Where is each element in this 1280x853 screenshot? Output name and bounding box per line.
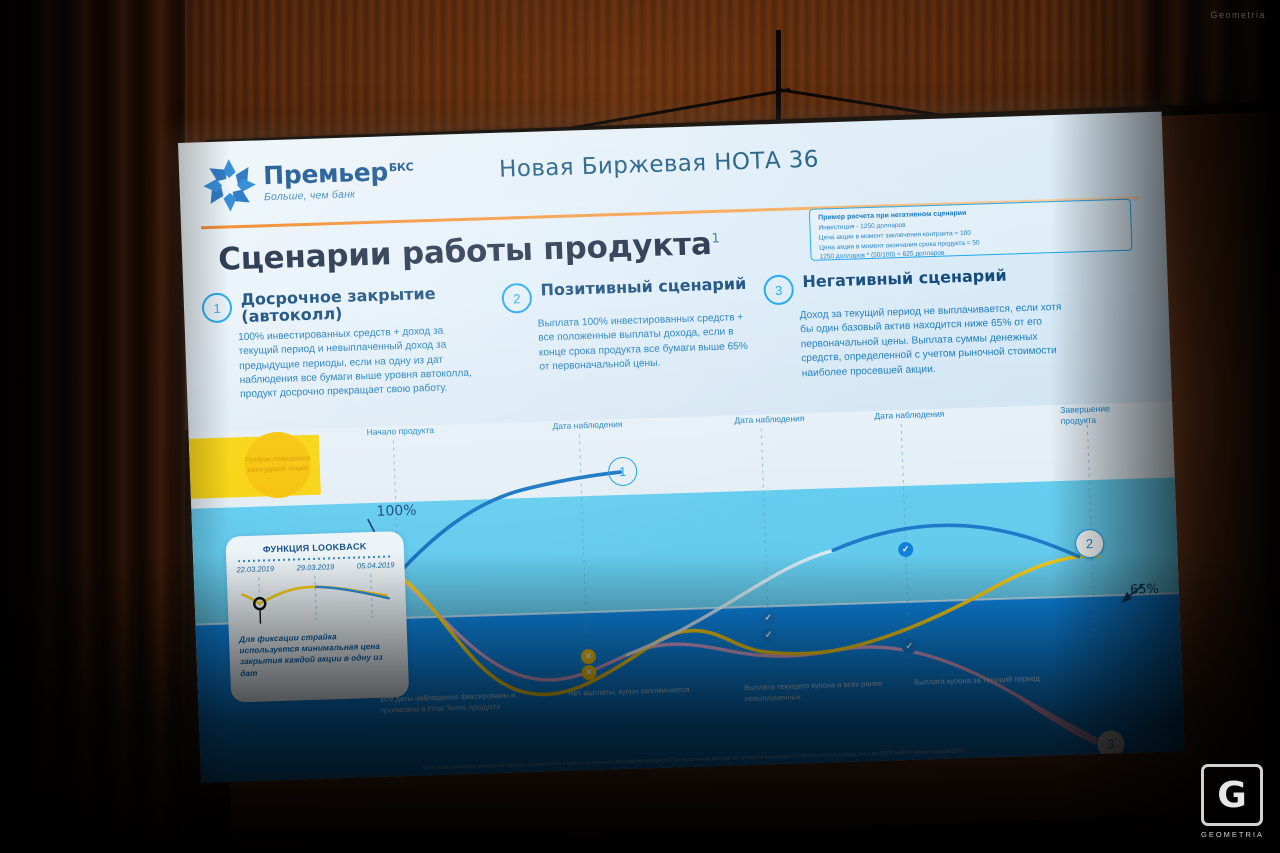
scenario-body: Доход за текущий период не выплачивается…: [799, 301, 1066, 382]
scenario-number-badge: 2: [501, 283, 532, 314]
vignette-bottom: [0, 553, 1280, 853]
scenario-title: Позитивный сценарий: [540, 275, 746, 299]
scenario-number-badge: 3: [763, 274, 794, 305]
brand-name: Премьер: [263, 157, 389, 190]
scenario-card-1: 1 Досрочное закрытие (автоколл) 100% инв…: [201, 283, 485, 404]
brand-superscript: БКС: [389, 160, 414, 174]
scenario-title: Досрочное закрытие (автоколл): [240, 283, 482, 325]
slide-title: Новая Биржевая НОТА 36: [499, 147, 820, 183]
watermark-caption: GEOMETRIA: [1201, 830, 1264, 839]
scenario-card-3: 3 Негативный сценарий Доход за текущий п…: [763, 265, 1067, 383]
scenario-card-2: 2 Позитивный сценарий Выплата 100% инвес…: [501, 275, 754, 377]
scenario-body: Выплата 100% инвестированных средств + в…: [538, 311, 755, 376]
heading-footnote-marker: 1: [711, 231, 720, 246]
page-title: Сценарии работы продукта1: [218, 226, 721, 278]
watermark-logo-icon: G: [1201, 764, 1263, 826]
watermark-top: Geometria: [1210, 10, 1266, 20]
scenario-body: 100% инвестированных средств + доход за …: [238, 323, 486, 403]
watermark-bottom: G GEOMETRIA: [1201, 764, 1264, 839]
level-label-100: 100%: [376, 503, 417, 520]
photo-scene: ПремьерБКС Больше, чем банк Новая Биржев…: [0, 0, 1280, 853]
brand-logo: ПремьерБКС Больше, чем банк: [201, 152, 415, 215]
scenario-title: Негативный сценарий: [802, 267, 1007, 291]
